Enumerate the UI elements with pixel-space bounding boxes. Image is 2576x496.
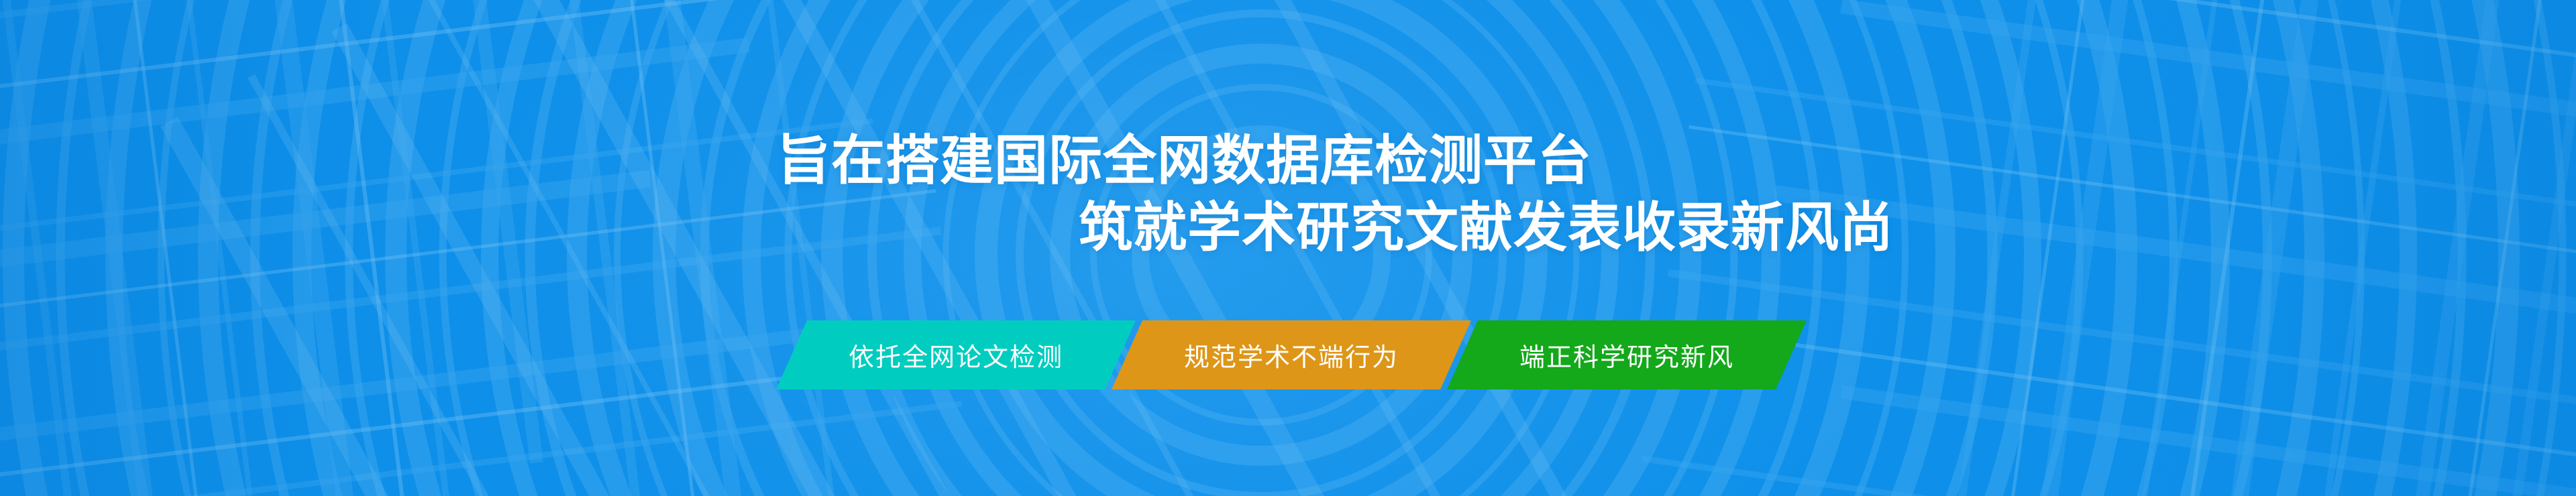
feature-tab-label: 规范学术不端行为 bbox=[1184, 336, 1399, 373]
feature-tab-research-ethos[interactable]: 端正科学研究新风 bbox=[1447, 320, 1807, 389]
promo-banner: 旨在搭建国际全网数据库检测平台 筑就学术研究文献发表收录新风尚 依托全网论文检测… bbox=[0, 0, 2576, 496]
feature-tab-paper-detection[interactable]: 依托全网论文检测 bbox=[776, 320, 1136, 389]
feature-tab-label: 端正科学研究新风 bbox=[1519, 336, 1734, 373]
feature-tab-academic-misconduct[interactable]: 规范学术不端行为 bbox=[1112, 320, 1471, 389]
headline-block: 旨在搭建国际全网数据库检测平台 筑就学术研究文献发表收录新风尚 bbox=[0, 0, 2576, 496]
headline-line-1: 旨在搭建国际全网数据库检测平台 bbox=[777, 134, 1592, 188]
feature-tab-label: 依托全网论文检测 bbox=[849, 336, 1063, 373]
headline-line-2: 筑就学术研究文献发表收录新风尚 bbox=[1079, 201, 1894, 255]
feature-tab-strip: 依托全网论文检测 规范学术不端行为 端正科学研究新风 bbox=[771, 320, 1808, 389]
